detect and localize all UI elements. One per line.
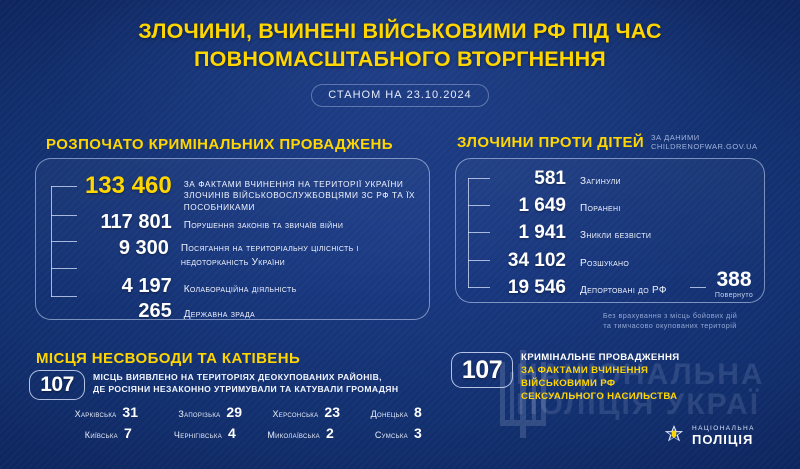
infographic-root: ЗЛОЧИНИ, ВЧИНЕНІ ВІЙСЬКОВИМИ РФ ПІД ЧАС … bbox=[0, 0, 800, 469]
page-title-line-1: ЗЛОЧИНИ, ВЧИНЕНІ ВІЙСЬКОВИМИ РФ ПІД ЧАС bbox=[0, 18, 800, 46]
returned-connector bbox=[690, 287, 706, 288]
sexual-violence-line-3: ВІЙСЬКОВИМИ РФ bbox=[521, 378, 615, 391]
oblast-khersonska-name: Херсонська bbox=[273, 409, 319, 419]
children-returned-value: 388 bbox=[706, 269, 762, 290]
header: ЗЛОЧИНИ, ВЧИНЕНІ ВІЙСЬКОВИМИ РФ ПІД ЧАС … bbox=[0, 18, 800, 107]
oblast-row-bottom: Київська 7 Чернігівська 4 Миколаївська 2… bbox=[33, 425, 428, 441]
proceedings-row-2-value: 117 801 bbox=[73, 211, 172, 234]
oblast-sumska-value: 3 bbox=[414, 425, 428, 441]
oblast-kyivska: Київська 7 bbox=[33, 425, 138, 441]
children-row-3-label: Зникли безвісти bbox=[580, 229, 651, 243]
detention-desc-line-1: МІСЦЬ ВИЯВЛЕНО НА ТЕРИТОРІЯХ ДЕОКУПОВАНИ… bbox=[93, 371, 398, 383]
date-badge: СТАНОМ НА 23.10.2024 bbox=[311, 84, 488, 107]
oblast-donetska-name: Донецька bbox=[371, 409, 408, 419]
proceedings-heading: РОЗПОЧАТО КРИМІНАЛЬНИХ ПРОВАДЖЕНЬ bbox=[46, 136, 393, 153]
detention-desc-line-2: ДЕ РОСІЯНИ НЕЗАКОННО УТРИМУВАЛИ ТА КАТУВ… bbox=[93, 383, 398, 395]
children-row-1-value: 581 bbox=[490, 168, 566, 190]
oblast-donetska-value: 8 bbox=[414, 404, 428, 420]
proceedings-row-2-label: Порушення законів та звичаїв війни bbox=[184, 219, 423, 233]
proceedings-row-5: 265 Державна зрада bbox=[73, 300, 423, 323]
children-row-5-value: 19 546 bbox=[490, 277, 566, 299]
proceedings-row-3-value: 9 300 bbox=[73, 237, 169, 260]
oblast-zaporizka-value: 29 bbox=[226, 404, 242, 420]
children-row-5-label: Депортовані до РФ bbox=[580, 284, 667, 298]
sexual-violence-line-2: ЗА ФАКТАМИ ВЧИНЕННЯ bbox=[521, 365, 648, 378]
oblast-sumska: Сумська 3 bbox=[340, 425, 428, 441]
children-footnote-line-1: Без врахування з місць бойових дій bbox=[545, 311, 795, 321]
proceedings-row-1-label: ЗА ФАКТАМИ ВЧИНЕННЯ НА ТЕРИТОРІЇ УКРАЇНИ… bbox=[184, 179, 423, 213]
oblast-zaporizka-name: Запорізька bbox=[178, 409, 220, 419]
oblast-mykolaivska: Миколаївська 2 bbox=[242, 425, 340, 441]
oblast-mykolaivska-value: 2 bbox=[326, 425, 340, 441]
children-row-3: 1 941 Зникли безвісти bbox=[490, 222, 651, 244]
oblast-row-top: Харківська 31 Запорізька 29 Херсонська 2… bbox=[33, 404, 428, 420]
sexual-violence-badge: 107 bbox=[451, 352, 513, 388]
oblast-chernihivska-name: Чернігівська bbox=[174, 430, 222, 440]
proceedings-row-4: 4 197 Колабораційна діяльність bbox=[73, 275, 423, 298]
oblast-kharkivska-name: Харківська bbox=[75, 409, 117, 419]
children-heading: ЗЛОЧИНИ ПРОТИ ДІТЕЙ bbox=[457, 134, 644, 151]
proceedings-row-1-value: 133 460 bbox=[73, 172, 172, 200]
proceedings-row-5-label: Державна зрада bbox=[184, 308, 423, 322]
oblast-donetska: Донецька 8 bbox=[340, 404, 428, 420]
sexual-violence-line-1: КРИМІНАЛЬНЕ ПРОВАДЖЕННЯ bbox=[521, 352, 679, 365]
oblast-khersonska-value: 23 bbox=[324, 404, 340, 420]
proceedings-row-3-label: Посягання на територіальну цілісність і … bbox=[181, 242, 423, 270]
children-row-4: 34 102 Розшукано bbox=[490, 250, 629, 272]
police-logo-bottom-text: ПОЛІЦІЯ bbox=[692, 433, 755, 447]
police-star-icon bbox=[663, 425, 685, 448]
children-bracket bbox=[468, 178, 490, 288]
children-returned-label: Повернуто bbox=[706, 292, 762, 299]
proceedings-row-3: 9 300 Посягання на територіальну цілісні… bbox=[73, 237, 423, 273]
oblast-kyivska-name: Київська bbox=[85, 430, 118, 440]
oblast-sumska-name: Сумська bbox=[375, 430, 408, 440]
children-row-3-value: 1 941 bbox=[490, 222, 566, 244]
proceedings-row-4-value: 4 197 bbox=[73, 275, 172, 298]
children-source-line-1: ЗА ДАНИМИ bbox=[651, 133, 700, 142]
police-logo: НАЦІОНАЛЬНА ПОЛІЦІЯ bbox=[663, 425, 755, 448]
children-returned: 388 Повернуто bbox=[706, 269, 762, 299]
detention-heading: МІСЦЯ НЕСВОБОДИ ТА КАТІВЕНЬ bbox=[36, 350, 300, 367]
sexual-violence-line-4: СЕКСУАЛЬНОГО НАСИЛЬСТВА bbox=[521, 391, 677, 404]
page-title-line-2: ПОВНОМАСШТАБНОГО ВТОРГНЕННЯ bbox=[0, 46, 800, 74]
oblast-kharkivska-value: 31 bbox=[122, 404, 138, 420]
detention-badge: 107 bbox=[29, 370, 85, 400]
oblast-khersonska: Херсонська 23 bbox=[242, 404, 340, 420]
proceedings-row-4-label: Колабораційна діяльність bbox=[184, 283, 423, 297]
children-row-4-value: 34 102 bbox=[490, 250, 566, 272]
children-row-1: 581 Загинули bbox=[490, 168, 621, 190]
children-source-line-2: CHILDRENOFWAR.GOV.UA bbox=[651, 142, 758, 151]
children-row-2-value: 1 649 bbox=[490, 195, 566, 217]
oblast-kyivska-value: 7 bbox=[124, 425, 138, 441]
oblast-chernihivska: Чернігівська 4 bbox=[138, 425, 242, 441]
oblast-zaporizka: Запорізька 29 bbox=[138, 404, 242, 420]
children-row-4-label: Розшукано bbox=[580, 257, 629, 271]
proceedings-row-2: 117 801 Порушення законів та звичаїв вій… bbox=[73, 211, 423, 234]
oblast-chernihivska-value: 4 bbox=[228, 425, 242, 441]
children-row-2: 1 649 Поранені bbox=[490, 195, 621, 217]
oblast-mykolaivska-name: Миколаївська bbox=[267, 430, 320, 440]
children-footnote-line-2: та тимчасово окупованих територій bbox=[545, 321, 795, 331]
children-row-2-label: Поранені bbox=[580, 202, 621, 216]
children-row-5: 19 546 Депортовані до РФ bbox=[490, 277, 667, 299]
children-row-1-label: Загинули bbox=[580, 175, 621, 189]
oblast-kharkivska: Харківська 31 bbox=[33, 404, 138, 420]
proceedings-row-5-value: 265 bbox=[73, 300, 172, 323]
oblast-breakdown: Харківська 31 Запорізька 29 Херсонська 2… bbox=[33, 404, 428, 441]
detention-description: МІСЦЬ ВИЯВЛЕНО НА ТЕРИТОРІЯХ ДЕОКУПОВАНИ… bbox=[93, 371, 398, 396]
